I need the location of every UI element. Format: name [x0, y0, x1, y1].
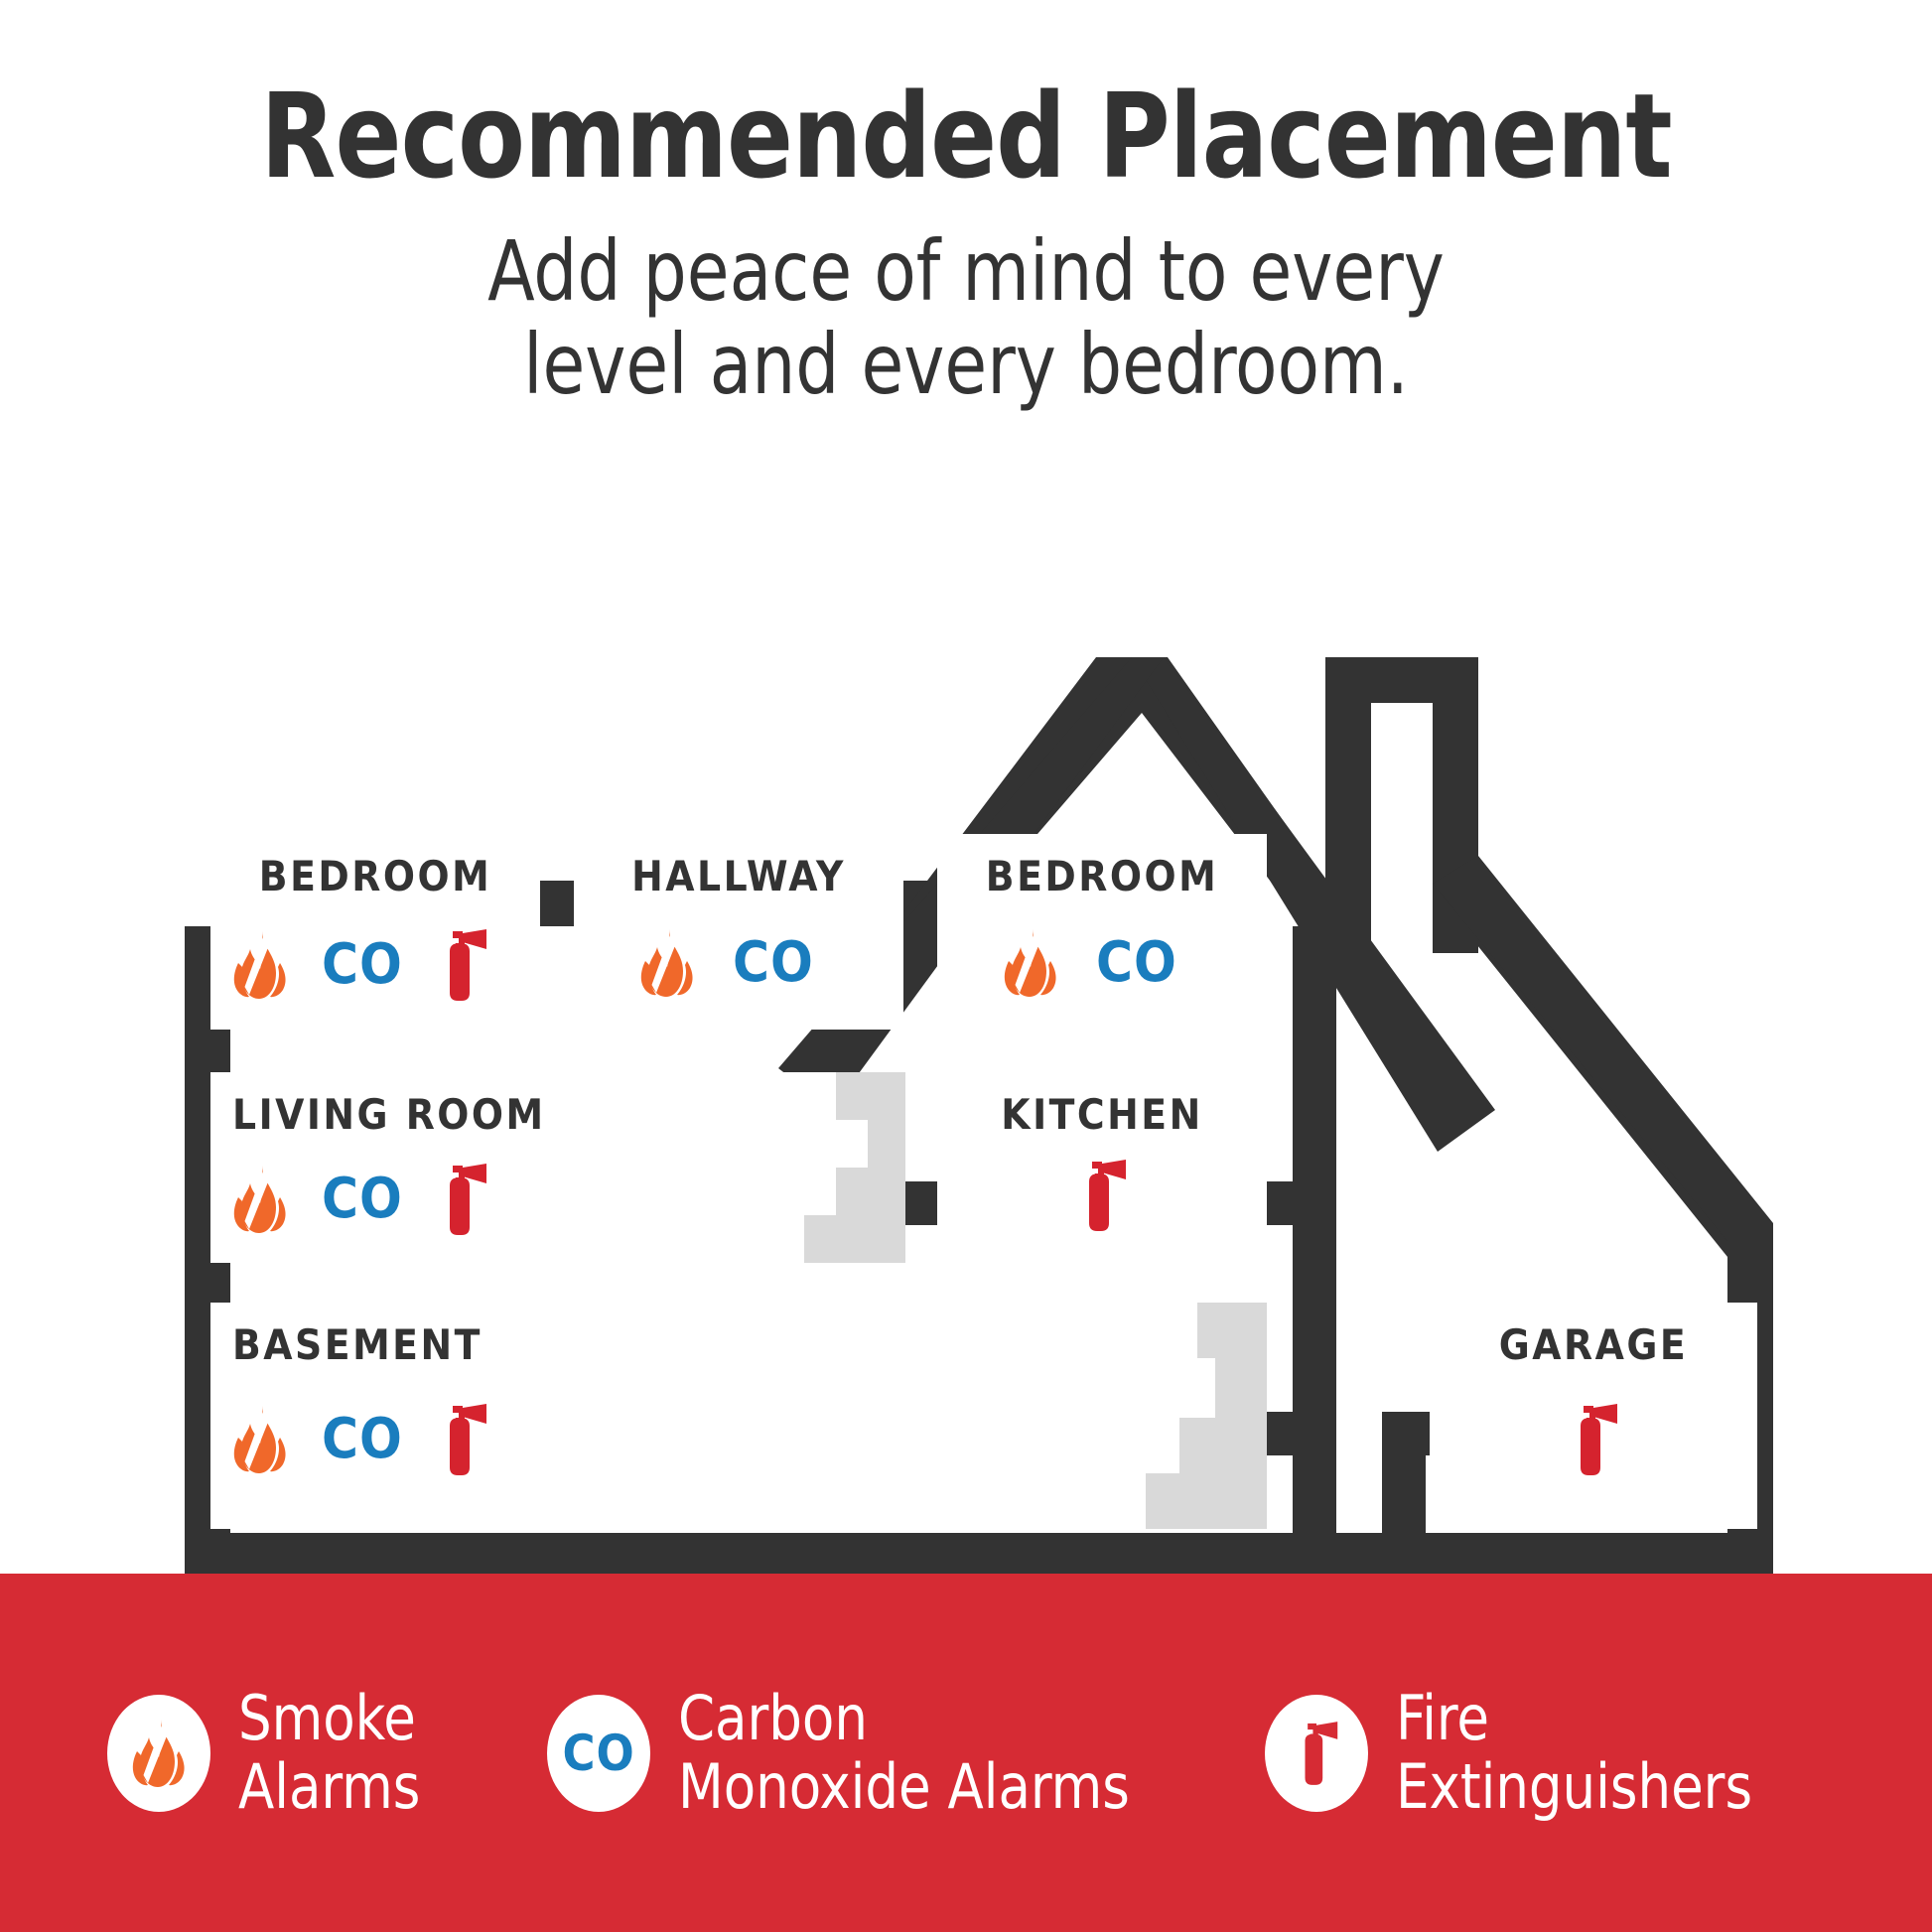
- legend-label-line-2: Extinguishers: [1396, 1753, 1752, 1821]
- smoke-alarm-icon: [232, 1404, 288, 1475]
- co-alarm-icon: CO: [562, 1728, 634, 1778]
- legend-label-line-2: Alarms: [238, 1753, 420, 1821]
- fire-extinguisher-icon: [437, 1162, 488, 1237]
- smoke-alarm-badge: [107, 1695, 210, 1812]
- room-hallway[interactable]: HALLWAY CO: [574, 834, 903, 1030]
- smoke-alarm-icon: [1003, 927, 1058, 999]
- page-subtitle: Add peace of mind to every level and eve…: [77, 224, 1855, 411]
- room-label: GARAGE: [1499, 1320, 1688, 1369]
- room-label: BASEMENT: [232, 1320, 483, 1369]
- fire-extinguisher-icon: [437, 1402, 488, 1477]
- room-label: LIVING ROOM: [232, 1090, 546, 1139]
- room-icons: CO: [232, 927, 488, 1003]
- co-alarm-icon: CO: [322, 1172, 403, 1227]
- smoke-alarm-icon: [232, 1164, 288, 1235]
- room-bedroom-right[interactable]: BEDROOM CO: [937, 834, 1267, 1030]
- fire-extinguisher-icon: [1294, 1720, 1339, 1787]
- fire-extinguisher-icon: [1076, 1158, 1128, 1233]
- header: Recommended Placement Add peace of mind …: [0, 0, 1932, 411]
- co-alarm-icon: CO: [733, 935, 814, 991]
- smoke-alarm-icon: [131, 1718, 187, 1789]
- infographic-root: Recommended Placement Add peace of mind …: [0, 0, 1932, 1932]
- staircase-icon: [1058, 1303, 1267, 1529]
- room-icons: CO: [639, 927, 814, 999]
- legend-items: Smoke Alarms CO Carbon Monoxide Alarms: [0, 1574, 1932, 1932]
- smoke-alarm-icon: [639, 927, 695, 999]
- room-label: KITCHEN: [1001, 1090, 1202, 1139]
- legend-label-line-1: Fire: [1396, 1685, 1752, 1752]
- staircase-icon: [717, 1072, 905, 1263]
- legend-item-carbon-monoxide-alarms[interactable]: CO Carbon Monoxide Alarms: [547, 1685, 1154, 1820]
- room-icons: [1568, 1402, 1619, 1477]
- legend-label: Carbon Monoxide Alarms: [678, 1685, 1130, 1820]
- room-living-room[interactable]: LIVING ROOM CO: [210, 1072, 905, 1263]
- fire-extinguisher-icon: [437, 927, 488, 1003]
- subtitle-line-1: Add peace of mind to every: [77, 224, 1855, 318]
- page-title: Recommended Placement: [68, 77, 1864, 195]
- smoke-alarm-icon: [232, 929, 288, 1001]
- fire-extinguisher-badge: [1265, 1695, 1368, 1812]
- room-label: BEDROOM: [986, 852, 1218, 900]
- room-icons: CO: [232, 1162, 488, 1237]
- co-alarm-icon: CO: [322, 937, 403, 993]
- co-alarm-badge: CO: [547, 1695, 650, 1812]
- legend-label: Fire Extinguishers: [1396, 1685, 1752, 1820]
- legend-label-line-2: Monoxide Alarms: [678, 1753, 1130, 1821]
- room-garage[interactable]: GARAGE: [1430, 1303, 1757, 1529]
- room-label: HALLWAY: [631, 852, 846, 900]
- legend-bar: Smoke Alarms CO Carbon Monoxide Alarms: [0, 1574, 1932, 1932]
- room-kitchen[interactable]: KITCHEN: [937, 1072, 1267, 1263]
- room-icons: [1076, 1158, 1128, 1233]
- room-basement[interactable]: BASEMENT CO: [210, 1303, 1267, 1529]
- fire-extinguisher-icon: [1568, 1402, 1619, 1477]
- legend-label-line-1: Carbon: [678, 1685, 1130, 1752]
- legend-label-line-1: Smoke: [238, 1685, 420, 1752]
- legend-item-smoke-alarms[interactable]: Smoke Alarms: [107, 1685, 430, 1820]
- co-alarm-icon: CO: [322, 1412, 403, 1467]
- room-icons: CO: [1003, 927, 1177, 999]
- co-alarm-icon: CO: [1096, 935, 1177, 991]
- room-icons: CO: [232, 1402, 488, 1477]
- legend-label: Smoke Alarms: [238, 1685, 420, 1820]
- room-bedroom-left[interactable]: BEDROOM CO: [210, 834, 540, 1030]
- room-label: BEDROOM: [259, 852, 491, 900]
- legend-item-fire-extinguishers[interactable]: Fire Extinguishers: [1265, 1685, 1771, 1820]
